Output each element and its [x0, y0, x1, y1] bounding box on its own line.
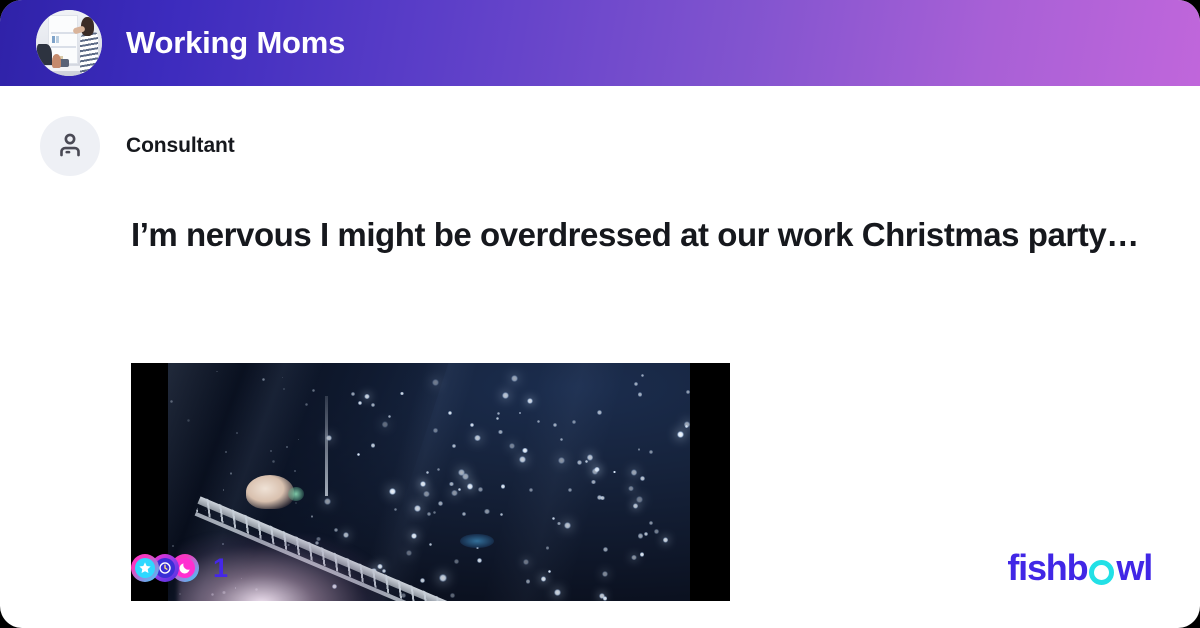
- curtain-light: [519, 412, 521, 414]
- curtain-light: [294, 470, 296, 472]
- curtain-light: [599, 593, 605, 599]
- curtain-light: [394, 508, 397, 511]
- curtain-light: [537, 420, 540, 423]
- curtain-light: [449, 482, 453, 486]
- curtain-light: [522, 448, 527, 453]
- curtain-light: [420, 481, 425, 486]
- curtain-light: [400, 392, 404, 396]
- curtain-light: [641, 374, 644, 377]
- curtain-light: [686, 390, 690, 394]
- curtain-light: [462, 512, 466, 516]
- curtain-light: [351, 392, 355, 396]
- bowl-avatar-photo: [36, 10, 102, 76]
- reactions-group[interactable]: 1: [131, 554, 228, 582]
- curtain-light: [358, 401, 362, 405]
- curtain-light: [600, 496, 604, 500]
- author-name: Consultant: [126, 134, 235, 158]
- curtain-light: [272, 460, 274, 462]
- photo-woman-body: [80, 32, 98, 73]
- curtain-light: [305, 403, 308, 406]
- curtain-light: [427, 512, 431, 516]
- curtain-light: [438, 501, 443, 506]
- curtain-light: [527, 398, 533, 404]
- curtain-light: [334, 528, 338, 532]
- curtain-light: [654, 529, 659, 534]
- author-avatar[interactable]: [40, 116, 100, 176]
- curtain-light: [633, 503, 638, 508]
- performer-figure: [246, 475, 294, 509]
- curtain-light: [312, 389, 315, 392]
- curtain-light: [613, 471, 616, 474]
- curtain-light: [452, 444, 455, 447]
- curtain-light: [270, 450, 271, 451]
- curtain-light: [433, 511, 436, 514]
- bowl-title: Working Moms: [126, 25, 345, 61]
- curtain-light: [501, 484, 506, 489]
- curtain-light: [592, 468, 599, 475]
- curtain-light: [638, 533, 643, 538]
- curtain-light: [451, 490, 458, 497]
- curtain-light: [423, 491, 429, 497]
- curtain-light: [458, 488, 461, 491]
- curtain-light: [558, 457, 565, 464]
- curtain-light: [187, 419, 190, 422]
- curtain-light: [631, 469, 637, 475]
- curtain-light: [371, 403, 375, 407]
- curtain-light: [357, 453, 360, 456]
- curtain-light: [478, 487, 483, 492]
- photo-child: [52, 54, 61, 69]
- photo-book: [56, 36, 59, 43]
- anonymous-person-icon: [55, 131, 85, 161]
- performer-accent: [288, 487, 304, 501]
- curtain-light: [591, 480, 595, 484]
- curtain-light: [470, 423, 474, 427]
- curtain-light: [628, 486, 633, 491]
- bowl-header: Working Moms: [0, 0, 1200, 86]
- reaction-stack[interactable]: [131, 554, 191, 582]
- curtain-light: [432, 379, 439, 386]
- curtain-light: [557, 522, 560, 525]
- curtain-light: [502, 392, 509, 399]
- curtain-light: [236, 432, 238, 434]
- curtain-light: [649, 521, 653, 525]
- curtain-light: [382, 421, 389, 428]
- curtain-light: [371, 443, 376, 448]
- curtain-light: [426, 471, 429, 474]
- curtain-light: [389, 488, 396, 495]
- curtain-light: [450, 593, 455, 598]
- curtain-light: [437, 468, 440, 471]
- curtain-light: [324, 498, 331, 505]
- curtain-light: [509, 443, 515, 449]
- curtain-light: [283, 388, 285, 390]
- post-footer: 1 fishb wl: [0, 546, 1200, 590]
- curtain-light: [597, 410, 602, 415]
- curtain-light: [638, 392, 643, 397]
- curtain-light: [572, 420, 576, 424]
- curtain-light: [474, 435, 481, 442]
- stage-pole: [325, 396, 328, 496]
- curtain-light: [640, 476, 645, 481]
- curtain-light: [388, 415, 391, 418]
- curtain-light: [414, 505, 421, 512]
- curtain-light: [311, 515, 313, 517]
- curtain-light: [553, 423, 558, 428]
- curtain-light: [286, 446, 288, 448]
- bowl-avatar[interactable]: [36, 10, 102, 76]
- page-background: Working Moms Consultant I’m nervous I mi…: [0, 0, 1200, 628]
- curtain-light: [529, 488, 533, 492]
- curtain-light: [500, 513, 503, 516]
- curtain-light: [411, 533, 417, 539]
- curtain-light: [638, 448, 640, 450]
- curtain-light: [298, 439, 299, 440]
- curtain-light: [684, 421, 690, 427]
- curtain-light: [511, 375, 518, 382]
- photo-book: [52, 36, 55, 43]
- curtain-light: [225, 451, 227, 453]
- curtain-light: [295, 502, 297, 504]
- curtain-light: [577, 460, 582, 465]
- curtain-light: [498, 430, 503, 435]
- curtain-light: [634, 382, 638, 386]
- fishbowl-logo-text-start: fishb: [1007, 550, 1087, 586]
- star-reaction-icon[interactable]: [131, 554, 159, 582]
- curtain-light: [649, 450, 653, 454]
- curtain-light: [585, 460, 588, 463]
- author-row: Consultant: [0, 86, 1200, 176]
- curtain-light: [230, 472, 233, 475]
- fishbowl-logo-o-ring: [1089, 560, 1114, 585]
- post-card: Working Moms Consultant I’m nervous I mi…: [0, 0, 1200, 628]
- post-title: I’m nervous I might be overdressed at ou…: [131, 216, 1200, 255]
- curtain-light: [564, 522, 571, 529]
- curtain-light: [568, 488, 573, 493]
- star-reaction-glyph: [135, 558, 155, 578]
- curtain-light: [484, 509, 489, 514]
- curtain-light: [519, 456, 526, 463]
- curtain-light: [458, 469, 465, 476]
- curtain-light: [644, 532, 648, 536]
- fishbowl-logo-text-end: wl: [1116, 550, 1152, 586]
- reaction-count: 1: [213, 555, 228, 582]
- curtain-light: [636, 496, 643, 503]
- curtain-light: [223, 489, 224, 490]
- curtain-light: [560, 438, 563, 441]
- curtain-light: [216, 371, 218, 373]
- curtain-light: [262, 378, 265, 381]
- curtain-light: [467, 483, 473, 489]
- post-body: Consultant I’m nervous I might be overdr…: [0, 86, 1200, 628]
- curtain-light: [663, 537, 669, 543]
- curtain-light: [170, 400, 173, 403]
- curtain-light: [433, 428, 437, 432]
- curtain-light: [448, 411, 452, 415]
- curtain-light: [282, 377, 283, 378]
- curtain-light: [496, 417, 500, 421]
- curtain-light: [364, 394, 370, 400]
- curtain-light: [677, 431, 684, 438]
- fishbowl-logo: fishb wl: [1007, 550, 1152, 586]
- curtain-light: [497, 412, 500, 415]
- curtain-light: [552, 517, 555, 520]
